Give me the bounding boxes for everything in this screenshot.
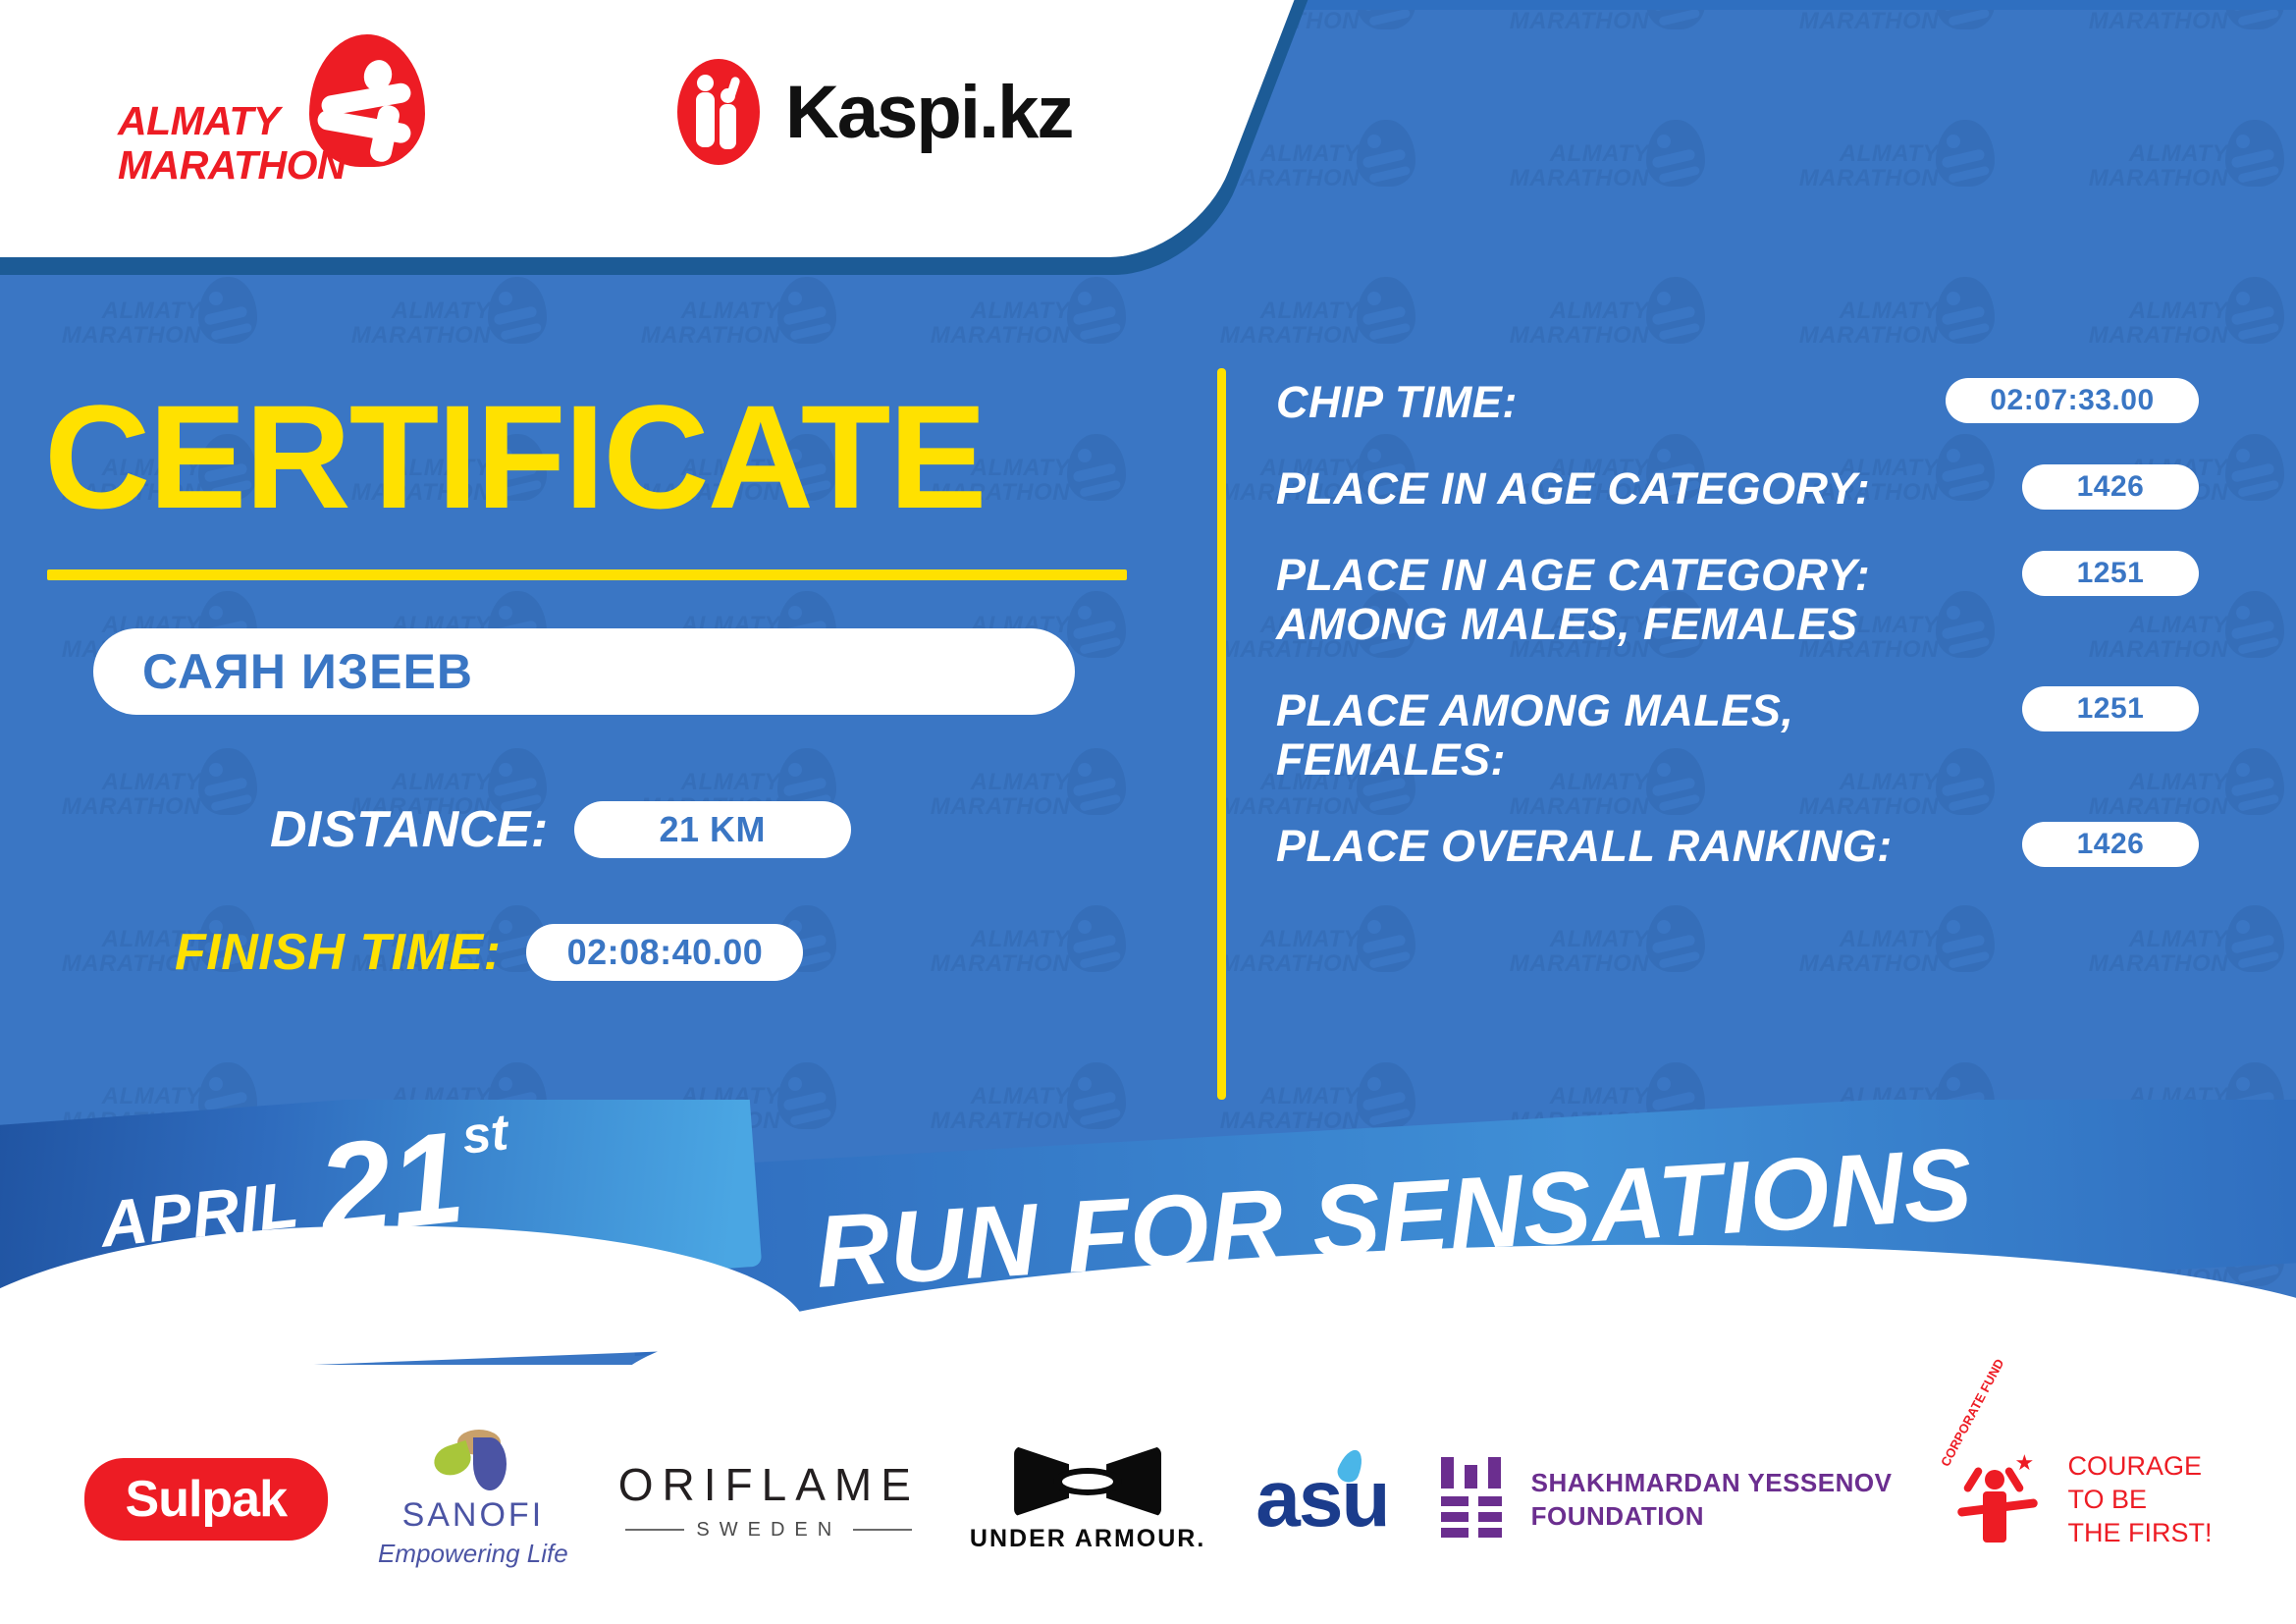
- almaty-logo-line1: ALMATY: [118, 99, 329, 143]
- certificate-page: ALMATYMARATHONALMATYMARATHONALMATYMARATH…: [0, 0, 2296, 1624]
- distance-row: DISTANCE: 21 KM: [270, 800, 851, 859]
- almaty-marathon-logo: ALMATY MARATHON: [118, 34, 442, 177]
- stat-label: PLACE AMONG MALES, FEMALES:: [1276, 686, 1904, 785]
- kaspi-people-icon: [677, 59, 760, 165]
- sponsors-strip: Sulpak SANOFI Empowering Life ORIFLAME S…: [0, 1375, 2296, 1624]
- sponsor-asu: asu: [1255, 1453, 1388, 1545]
- stat-label: PLACE IN AGE CATEGORY:: [1276, 464, 1870, 514]
- oriflame-tagline: SWEDEN: [696, 1519, 841, 1542]
- finish-time-label: FINISH TIME:: [175, 923, 501, 982]
- stat-value: 02:07:33.00: [1946, 378, 2199, 423]
- stat-row: PLACE OVERALL RANKING:1426: [1276, 822, 2199, 871]
- stat-row: PLACE AMONG MALES, FEMALES:1251: [1276, 686, 2199, 785]
- stat-row: PLACE IN AGE CATEGORY:1426: [1276, 464, 2199, 514]
- stat-value: 1426: [2022, 464, 2199, 510]
- asu-wordmark: asu: [1255, 1453, 1388, 1545]
- yessenov-wordmark: SHAKHMARDAN YESSENOV: [1531, 1466, 1893, 1499]
- almaty-marathon-wordmark: ALMATY MARATHON: [118, 99, 329, 188]
- kaspi-logo: Kaspi.kz: [677, 59, 1072, 165]
- under-armour-icon: [1014, 1446, 1161, 1517]
- kaspi-wordmark: Kaspi.kz: [785, 70, 1072, 155]
- stat-value: 1251: [2022, 686, 2199, 731]
- stat-label: PLACE IN AGE CATEGORY: AMONG MALES, FEMA…: [1276, 551, 1904, 649]
- finish-time-row: FINISH TIME: 02:08:40.00: [175, 923, 803, 982]
- oriflame-wordmark: ORIFLAME: [618, 1458, 920, 1511]
- sulpak-wordmark: Sulpak: [84, 1458, 329, 1541]
- participant-name: САЯН ИЗЕЕВ: [142, 643, 473, 700]
- sponsor-oriflame: ORIFLAME SWEDEN: [618, 1458, 920, 1542]
- stat-row: PLACE IN AGE CATEGORY: AMONG MALES, FEMA…: [1276, 551, 2199, 649]
- sanofi-symbol-icon: [428, 1430, 518, 1490]
- sanofi-wordmark: SANOFI: [378, 1496, 568, 1535]
- stat-value: 1251: [2022, 551, 2199, 596]
- finish-time-value: 02:08:40.00: [526, 924, 803, 981]
- stat-value: 1426: [2022, 822, 2199, 867]
- courage-runner-icon: CORPORATE FUND ★: [1942, 1448, 2050, 1550]
- vertical-divider: [1217, 368, 1226, 1100]
- sponsor-sanofi: SANOFI Empowering Life: [378, 1430, 568, 1569]
- corporate-fund-label: CORPORATE FUND: [1938, 1356, 2006, 1469]
- courage-line-2: TO BE: [2067, 1483, 2212, 1516]
- title-underline: [47, 569, 1127, 580]
- yessenov-tagline: FOUNDATION: [1531, 1499, 1893, 1533]
- yessenov-bars-icon: [1439, 1457, 1506, 1542]
- stat-row: CHIP TIME:02:07:33.00: [1276, 378, 2199, 427]
- sponsor-courage-fund: CORPORATE FUND ★ COURAGE TO BE THE FIRST…: [1942, 1448, 2212, 1550]
- stat-label: PLACE OVERALL RANKING:: [1276, 822, 1893, 871]
- distance-value: 21 KM: [574, 801, 851, 858]
- page-title: CERTIFICATE: [44, 383, 986, 530]
- stat-label: CHIP TIME:: [1276, 378, 1518, 427]
- sanofi-tagline: Empowering Life: [378, 1539, 568, 1569]
- sponsor-under-armour: UNDER ARMOUR.: [970, 1446, 1205, 1553]
- almaty-logo-line2: MARATHON: [118, 143, 329, 188]
- courage-line-1: COURAGE: [2067, 1449, 2212, 1483]
- courage-line-3: THE FIRST!: [2067, 1516, 2212, 1549]
- distance-label: DISTANCE:: [270, 800, 549, 859]
- results-stats-list: CHIP TIME:02:07:33.00PLACE IN AGE CATEGO…: [1276, 378, 2199, 908]
- under-armour-wordmark: UNDER ARMOUR.: [970, 1525, 1205, 1553]
- sponsor-sulpak: Sulpak: [84, 1458, 329, 1541]
- participant-name-field: САЯН ИЗЕЕВ: [93, 628, 1075, 715]
- sponsor-yessenov-foundation: SHAKHMARDAN YESSENOV FOUNDATION: [1439, 1457, 1893, 1542]
